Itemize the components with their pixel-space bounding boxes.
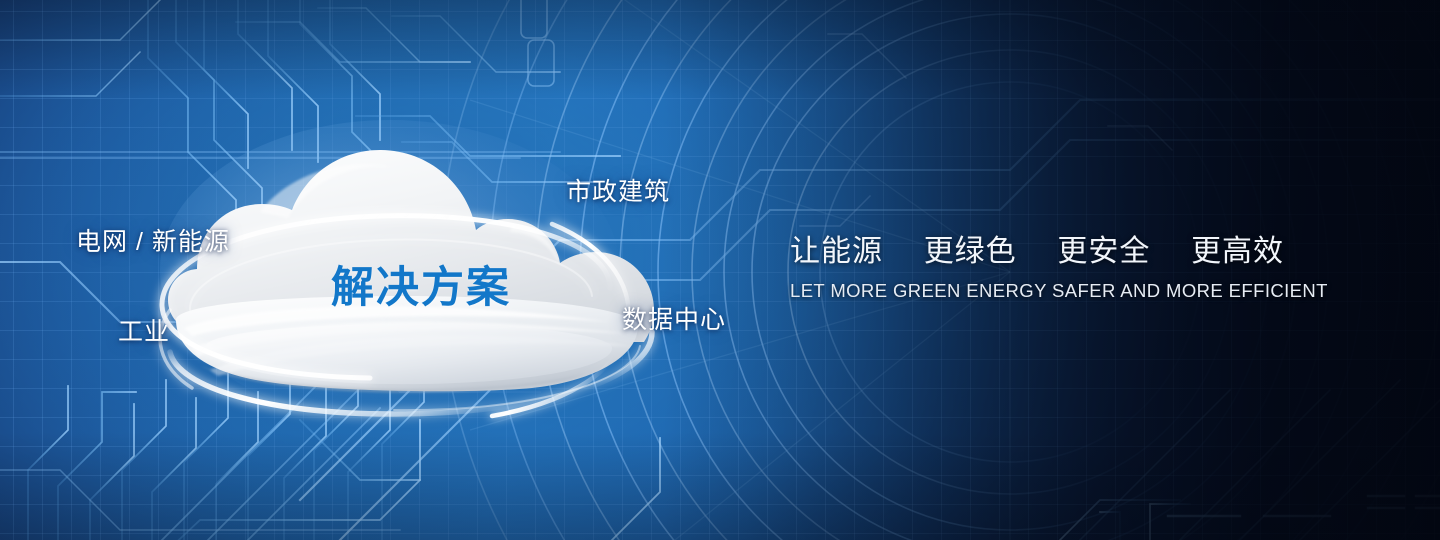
- slogan-cn-part-1: 让能源: [790, 235, 883, 268]
- cloud-title: 解决方案: [331, 253, 511, 315]
- slogan-cn-part-4: 更高效: [1191, 235, 1284, 268]
- label-datacenter: 数据中心: [622, 300, 726, 336]
- slogan-block: 让能源 更绿色 更安全 更高效 LET MORE GREEN ENERGY SA…: [790, 226, 1328, 302]
- slogan-chinese: 让能源 更绿色 更安全 更高效: [790, 226, 1328, 270]
- label-municipal: 市政建筑: [566, 172, 670, 208]
- slogan-cn-part-2: 更绿色: [924, 235, 1017, 268]
- solution-hero-banner: 解决方案 电网 / 新能源 工业 市政建筑 数据中心 让能源 更绿色 更安全 更…: [0, 0, 1440, 540]
- label-industry: 工业: [118, 312, 170, 348]
- slogan-english: LET MORE GREEN ENERGY SAFER AND MORE EFF…: [790, 280, 1328, 302]
- label-grid-energy: 电网 / 新能源: [76, 222, 230, 258]
- slogan-cn-part-3: 更安全: [1057, 235, 1150, 268]
